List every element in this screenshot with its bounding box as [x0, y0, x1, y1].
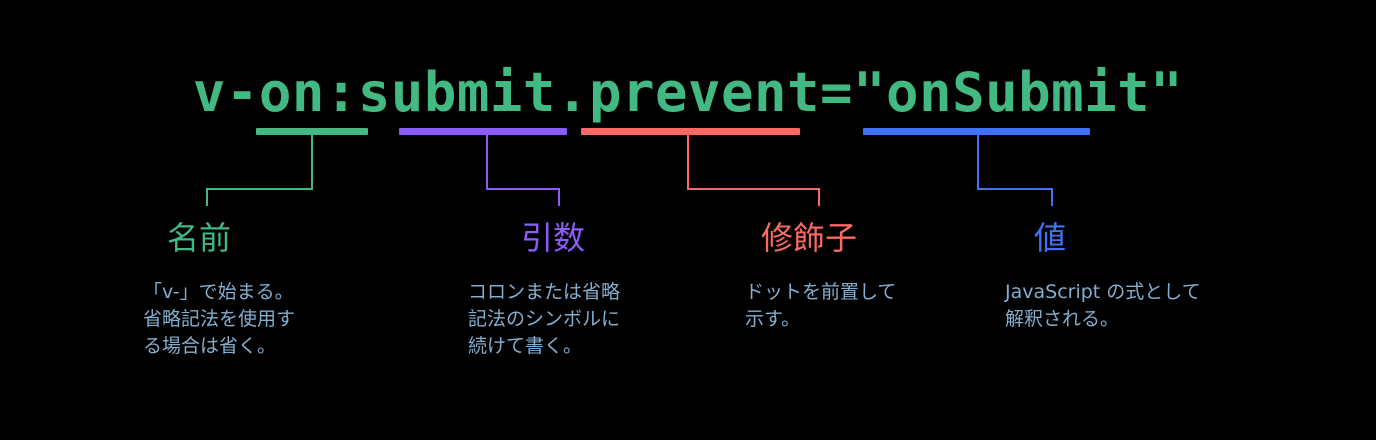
- connector-horizontal-argument: [486, 188, 560, 190]
- group-label-modifier: 修飾子: [761, 219, 857, 257]
- connector-vertical-modifier: [687, 135, 689, 190]
- connector-stub-modifier: [818, 188, 820, 206]
- diagram-canvas: v-on:submit.prevent="onSubmit" 名前 「v-」で始…: [0, 0, 1376, 440]
- underline-bar-modifier: [581, 128, 800, 135]
- connector-vertical-value: [977, 135, 979, 190]
- group-description-modifier: ドットを前置して 示す。: [745, 279, 975, 333]
- group-label-argument: 引数: [521, 219, 585, 257]
- connector-stub-value: [1051, 188, 1053, 206]
- connector-vertical-argument: [486, 135, 488, 190]
- connector-horizontal-modifier: [687, 188, 820, 190]
- connector-stub-name: [206, 188, 208, 206]
- group-label-value: 値: [1034, 219, 1066, 257]
- connector-stub-argument: [558, 188, 560, 206]
- group-label-name: 名前: [167, 219, 231, 257]
- underline-bar-name: [256, 128, 368, 135]
- group-description-name: 「v-」で始まる。 省略記法を使用す る場合は省く。: [143, 279, 373, 360]
- underline-bar-value: [863, 128, 1090, 135]
- connector-horizontal-name: [206, 188, 313, 190]
- group-description-value: JavaScript の式として 解釈される。: [1005, 279, 1285, 333]
- group-description-argument: コロンまたは省略 記法のシンボルに 続けて書く。: [468, 279, 698, 360]
- connector-vertical-name: [311, 135, 313, 190]
- underline-bar-argument: [399, 128, 567, 135]
- connector-horizontal-value: [977, 188, 1053, 190]
- code-expression: v-on:submit.prevent="onSubmit": [0, 60, 1376, 126]
